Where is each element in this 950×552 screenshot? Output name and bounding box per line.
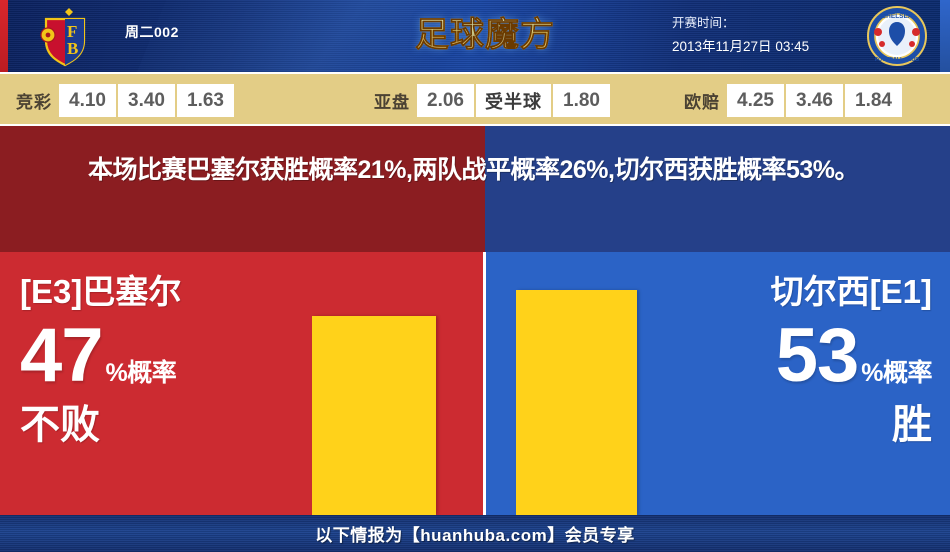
match-probability-infographic: F B CHELSEA FOOTBALL CLUB 周二002 足球魔方 开赛时… [0, 0, 950, 552]
right-blue-edge-stripe [940, 0, 950, 72]
left-red-edge-stripe [0, 0, 8, 72]
odds-group-european: 欧赔 4.25 3.46 1.84 [684, 84, 904, 117]
footer-notice-text: 以下情报为【huanhuba.com】会员专享 [315, 521, 634, 546]
odds-group-label: 竞彩 [16, 88, 52, 113]
away-probability-bar [516, 290, 637, 515]
chelsea-crest-icon: CHELSEA FOOTBALL CLUB [866, 5, 928, 67]
home-team-name: [E3]巴塞尔 [20, 270, 288, 314]
odds-cell-european-draw[interactable]: 3.46 [786, 84, 843, 117]
home-percent-suffix: %概率 [106, 353, 177, 389]
home-percent-row: 47 %概率 [20, 316, 288, 396]
probability-summary-text: 本场比赛巴塞尔获胜概率21%,两队战平概率26%,切尔西获胜概率53%。 [88, 150, 878, 190]
main-comparison-area: [E3]巴塞尔 47 %概率 不败 切尔西[E1] 53 %概率 胜 [0, 252, 950, 515]
odds-group-label: 欧赔 [684, 88, 720, 113]
odds-bar: 竞彩 4.10 3.40 1.63 亚盘 2.06 受半球 1.80 欧赔 4.… [0, 72, 950, 124]
odds-cell-asian-home[interactable]: 2.06 [417, 84, 474, 117]
odds-cell-european-home[interactable]: 4.25 [727, 84, 784, 117]
brand-logo-text: 足球魔方 [415, 16, 555, 54]
kickoff-label: 开赛时间： [672, 12, 809, 35]
svg-text:CHELSEA: CHELSEA [881, 13, 912, 20]
header-bar: F B CHELSEA FOOTBALL CLUB 周二002 足球魔方 开赛时… [0, 0, 950, 72]
home-percent-value: 47 [20, 316, 103, 396]
home-outcome-label: 不败 [20, 398, 288, 452]
away-team-name: 切尔西[E1] [664, 270, 932, 314]
away-team-info: 切尔西[E1] 53 %概率 胜 [664, 270, 932, 452]
panel-divider [483, 252, 486, 515]
odds-cell-asian-handicap[interactable]: 受半球 [476, 84, 551, 117]
odds-cell-asian-away[interactable]: 1.80 [553, 84, 610, 117]
away-percent-suffix: %概率 [861, 353, 932, 389]
kickoff-time-block: 开赛时间： 2013年11月27日 03:45 [672, 12, 809, 58]
odds-cell-european-away[interactable]: 1.84 [845, 84, 902, 117]
svg-text:FOOTBALL CLUB: FOOTBALL CLUB [875, 57, 919, 63]
away-percent-value: 53 [776, 316, 859, 396]
match-number-label: 周二002 [125, 22, 179, 42]
odds-group-label: 亚盘 [374, 88, 410, 113]
away-percent-row: 53 %概率 [664, 316, 932, 396]
odds-group-jingcai: 竞彩 4.10 3.40 1.63 [16, 84, 236, 117]
svg-text:B: B [67, 39, 78, 58]
basel-crest-icon: F B [34, 6, 96, 68]
home-probability-bar [312, 316, 436, 515]
odds-cell-jingcai-home[interactable]: 4.10 [59, 84, 116, 117]
site-brand-logo: 足球魔方 [415, 9, 555, 61]
odds-group-asian-handicap: 亚盘 2.06 受半球 1.80 [374, 84, 612, 117]
probability-summary-banner: 本场比赛巴塞尔获胜概率21%,两队战平概率26%,切尔西获胜概率53%。 [0, 126, 950, 252]
footer-bar: 以下情报为【huanhuba.com】会员专享 [0, 515, 950, 552]
odds-cell-jingcai-draw[interactable]: 3.40 [118, 84, 175, 117]
kickoff-value: 2013年11月27日 03:45 [672, 35, 809, 58]
home-team-info: [E3]巴塞尔 47 %概率 不败 [20, 270, 288, 452]
odds-cell-jingcai-away[interactable]: 1.63 [177, 84, 234, 117]
away-outcome-label: 胜 [664, 398, 932, 452]
